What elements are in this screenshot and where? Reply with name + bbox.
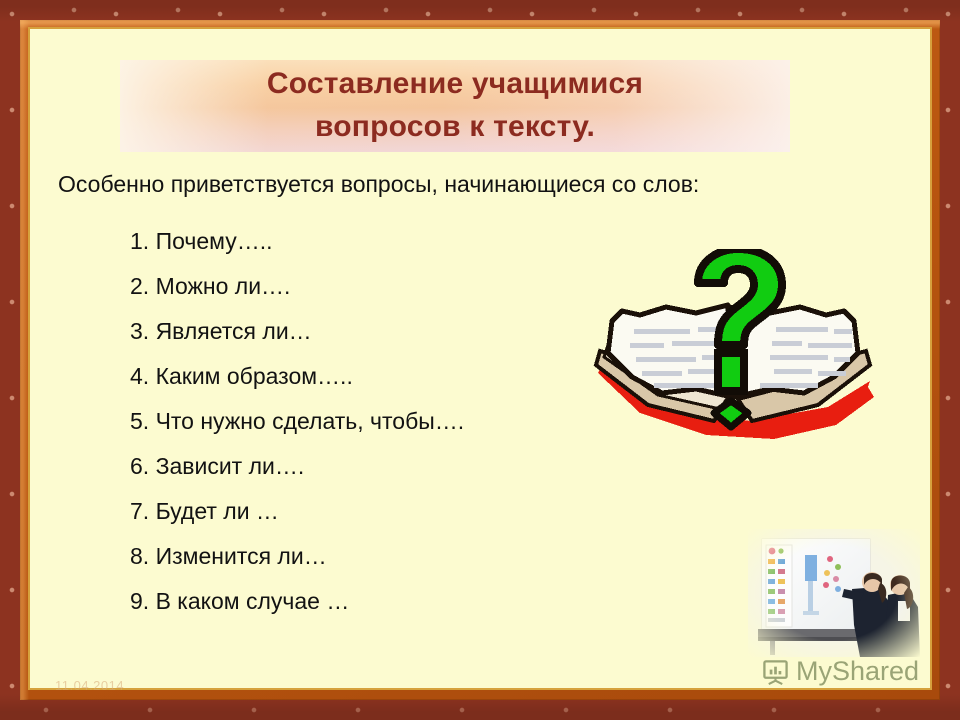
slide: Составление учащимися вопросов к тексту.… <box>0 0 960 720</box>
presentation-chart-icon <box>762 658 789 685</box>
list-item: 9. В каком случае … <box>130 579 464 624</box>
list-item: 5. Что нужно сделать, чтобы…. <box>130 399 464 444</box>
myshared-watermark: MyShared <box>762 658 919 685</box>
list-item: 4. Каким образом….. <box>130 354 464 399</box>
slide-canvas: Составление учащимися вопросов к тексту.… <box>30 29 930 688</box>
whiteboard-classroom-photo <box>748 529 920 657</box>
question-starters-list: 1. Почему….. 2. Можно ли…. 3. Является л… <box>130 219 464 624</box>
intro-text: Особенно приветствуется вопросы, начинаю… <box>58 171 699 198</box>
list-item: 6. Зависит ли…. <box>130 444 464 489</box>
open-book-question-mark-icon <box>578 249 888 444</box>
list-item: 1. Почему….. <box>130 219 464 264</box>
title-banner: Составление учащимися вопросов к тексту. <box>120 60 790 152</box>
list-item: 2. Можно ли…. <box>130 264 464 309</box>
watermark-label: MyShared <box>796 658 919 685</box>
title-line-1: Составление учащимися <box>267 63 643 106</box>
list-item: 3. Является ли… <box>130 309 464 354</box>
page-title: Составление учащимися вопросов к тексту. <box>120 60 790 152</box>
title-line-2: вопросов к тексту. <box>315 106 595 149</box>
list-item: 7. Будет ли … <box>130 489 464 534</box>
list-item: 8. Изменится ли… <box>130 534 464 579</box>
date-stamp: 11.04.2014 <box>55 678 124 693</box>
